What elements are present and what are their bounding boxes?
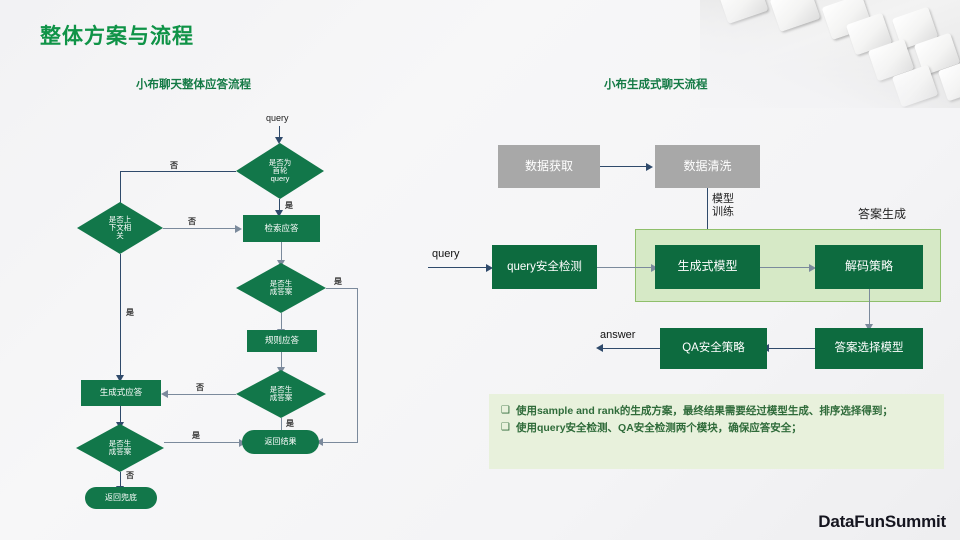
- arrowhead-gen2-no: [161, 390, 168, 398]
- node-qa-safety-policy[interactable]: QA安全策略: [660, 328, 767, 369]
- connector-entry-right: [428, 267, 488, 268]
- node-return-result[interactable]: 返回结果: [242, 430, 319, 454]
- node-decode-strategy[interactable]: 解码策略: [815, 245, 923, 289]
- list-item: ❑ 使用query安全检测、QA安全检测两个模块，确保应答安全；: [501, 420, 930, 436]
- node-label: 是否生 成答案: [270, 280, 293, 297]
- list-item-text: 使用sample and rank的生成方案，最终结果需要经过模型生成、排序选择…: [516, 403, 893, 419]
- edge-label-firstround-yes: 是: [285, 200, 293, 211]
- node-answer-selection-model[interactable]: 答案选择模型: [815, 328, 923, 369]
- slide-canvas: 整体方案与流程 小布聊天整体应答流程 query 是否为 首轮 query 否 …: [0, 0, 960, 540]
- node-generative-response[interactable]: 生成式应答: [81, 380, 161, 406]
- node-query-safety-check[interactable]: query安全检测: [492, 245, 597, 289]
- footer-logo: DataFunSummit: [818, 512, 946, 532]
- group-label-answer-generation: 答案生成: [858, 208, 906, 222]
- connector-context-no: [163, 228, 236, 229]
- summary-panel: ❑ 使用sample and rank的生成方案，最终结果需要经过模型生成、排序…: [489, 394, 944, 469]
- edge-label-context-no: 否: [188, 216, 196, 227]
- node-return-fallback[interactable]: 返回兜底: [85, 487, 157, 509]
- edge-label-gen2-no: 否: [196, 382, 204, 393]
- node-retrieval-response[interactable]: 检索应答: [243, 215, 320, 242]
- connector-decode-to-select: [869, 289, 870, 327]
- connector-context-yes: [120, 254, 121, 378]
- connector-gen1-yes-v: [357, 288, 358, 442]
- edge-label-gen1-yes: 是: [334, 276, 342, 287]
- node-label: 是否生 成答案: [109, 440, 132, 457]
- connector-select-to-qa: [768, 348, 815, 349]
- bullet-marker-icon: ❑: [501, 403, 510, 419]
- left-entry-label: query: [266, 113, 289, 123]
- node-is-context-relevant[interactable]: 是否上 下文相 关: [77, 202, 163, 254]
- node-label: 是否上 下文相 关: [109, 216, 132, 241]
- node-label: 是否为 首轮 query: [269, 159, 292, 184]
- left-flow-heading: 小布聊天整体应答流程: [136, 76, 251, 92]
- connector-answer-out: [602, 348, 660, 349]
- connector-firstround-no-h: [120, 171, 236, 172]
- bullet-marker-icon: ❑: [501, 420, 510, 436]
- node-data-cleaning[interactable]: 数据清洗: [655, 145, 760, 188]
- list-item: ❑ 使用sample and rank的生成方案，最终结果需要经过模型生成、排序…: [501, 403, 930, 419]
- node-has-answer-1[interactable]: 是否生 成答案: [236, 263, 326, 313]
- connector-gen1-yes-return-h: [322, 442, 358, 443]
- page-title: 整体方案与流程: [40, 20, 194, 50]
- connector-model-to-decode: [760, 267, 813, 268]
- edge-label-gen2-yes: 是: [286, 418, 294, 429]
- edge-label-gen3-yes: 是: [192, 430, 200, 441]
- node-data-acquisition[interactable]: 数据获取: [498, 145, 600, 188]
- edge-label-gen3-no: 否: [126, 470, 134, 481]
- connector-query-to-model: [597, 267, 655, 268]
- list-item-text: 使用query安全检测、QA安全检测两个模块，确保应答安全；: [516, 420, 802, 436]
- connector-fetch-to-clean: [600, 166, 648, 167]
- node-label: 是否生 成答案: [270, 386, 293, 403]
- node-has-answer-3[interactable]: 是否生 成答案: [76, 424, 164, 472]
- connector-gen3-yes: [164, 442, 242, 443]
- right-entry-label: query: [432, 248, 460, 260]
- arrowhead-fetch-to-clean: [646, 163, 653, 171]
- edge-label-model-training: 模型 训练: [712, 193, 734, 218]
- connector-gen2-no: [167, 394, 236, 395]
- node-is-first-round-query[interactable]: 是否为 首轮 query: [236, 143, 324, 199]
- right-flow-heading: 小布生成式聊天流程: [604, 76, 708, 92]
- edge-label-context-yes: 是: [126, 307, 134, 318]
- node-generative-model[interactable]: 生成式模型: [655, 245, 760, 289]
- keyboard-photo-decoration: [700, 0, 960, 108]
- arrowhead-answer-out: [596, 344, 603, 352]
- node-has-answer-2[interactable]: 是否生 成答案: [236, 370, 326, 418]
- arrowhead-context-no: [235, 225, 242, 233]
- edge-label-firstround-no: 否: [170, 160, 178, 171]
- connector-gen1-yes-h: [326, 288, 358, 289]
- node-rule-response[interactable]: 规则应答: [247, 330, 317, 352]
- right-exit-label: answer: [600, 329, 635, 341]
